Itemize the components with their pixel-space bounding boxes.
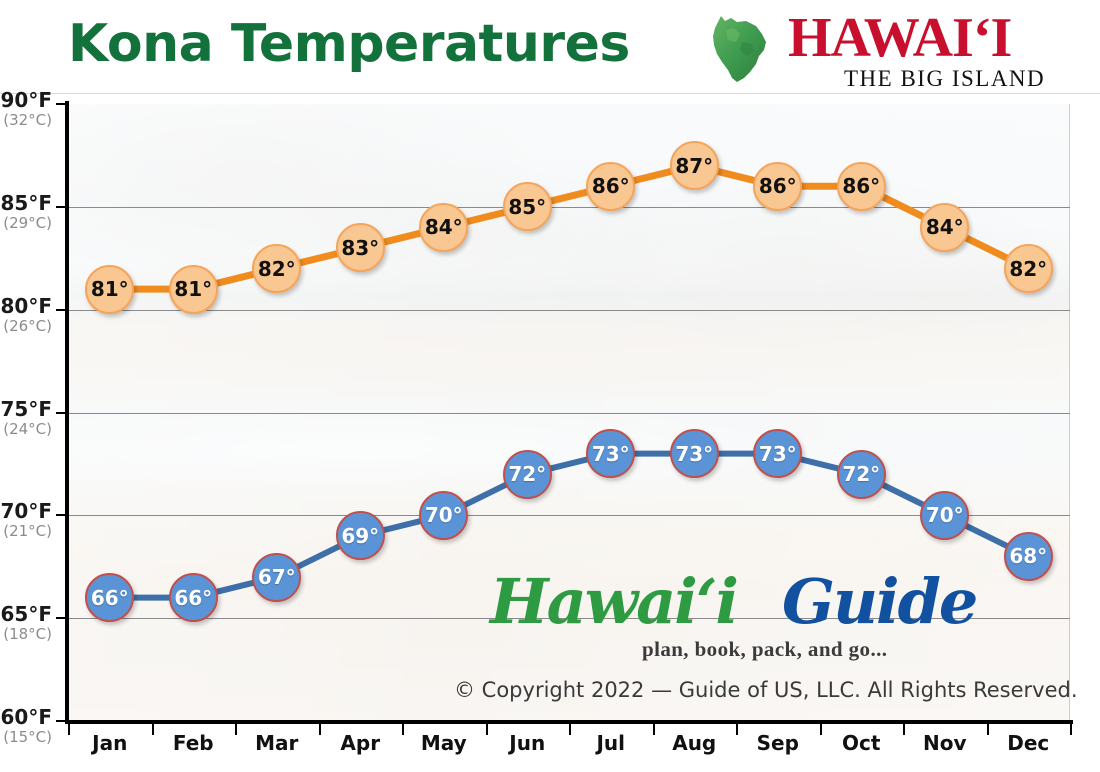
big-island-shape-icon	[704, 12, 782, 84]
x-axis-tick-label: Jan	[65, 731, 155, 755]
y-axis-tick-label: 85°F(29°C)	[0, 193, 52, 232]
data-point-low-may[interactable]: 70°	[419, 491, 468, 540]
copyright-notice: © Copyright 2022 — Guide of US, LLC. All…	[454, 678, 1078, 702]
y-tick-fahrenheit: 60°F	[0, 707, 52, 728]
watermark-brand-guide: Guide	[782, 567, 976, 637]
gridline	[68, 207, 1070, 208]
chart-header: Kona Temperatures HAWAIʻI THE BIG ISLAND	[0, 0, 1100, 94]
hawaii-guide-logo: Hawaiʻi Guide plan, book, pack, and go..…	[452, 565, 922, 643]
data-point-high-jul[interactable]: 86°	[586, 162, 635, 211]
x-axis-tick-label: Apr	[315, 731, 405, 755]
data-point-low-apr[interactable]: 69°	[336, 511, 385, 560]
temperature-chart-page: Kona Temperatures HAWAIʻI THE BIG ISLAND	[0, 0, 1100, 772]
y-axis-tick-label: 80°F(26°C)	[0, 296, 52, 335]
y-tick-celsius: (24°C)	[0, 420, 52, 438]
y-tick-celsius: (29°C)	[0, 214, 52, 232]
data-point-high-sep[interactable]: 86°	[753, 162, 802, 211]
y-tick-fahrenheit: 75°F	[0, 399, 52, 420]
brand-subtitle: THE BIG ISLAND	[844, 66, 1045, 92]
y-axis-tick	[56, 514, 68, 516]
page-title: Kona Temperatures	[68, 14, 630, 74]
gridline	[68, 310, 1070, 311]
x-axis-tick-label: Dec	[983, 731, 1073, 755]
y-tick-fahrenheit: 80°F	[0, 296, 52, 317]
y-axis-tick	[56, 412, 68, 414]
hawaii-guide-watermark: Hawaiʻi Guide plan, book, pack, and go..…	[452, 565, 1012, 700]
x-axis-tick-label: Oct	[816, 731, 906, 755]
y-axis-tick	[56, 617, 68, 619]
y-axis-tick	[56, 309, 68, 311]
y-tick-fahrenheit: 70°F	[0, 501, 52, 522]
data-point-high-apr[interactable]: 83°	[336, 223, 385, 272]
y-tick-fahrenheit: 85°F	[0, 193, 52, 214]
data-point-high-aug[interactable]: 87°	[670, 141, 719, 190]
data-point-high-jan[interactable]: 81°	[85, 265, 134, 314]
brand-wordmark: HAWAIʻI	[788, 8, 1011, 68]
data-point-low-nov[interactable]: 70°	[920, 491, 969, 540]
watermark-tagline: plan, book, pack, and go...	[642, 637, 887, 662]
gridline	[68, 413, 1070, 414]
y-tick-fahrenheit: 65°F	[0, 604, 52, 625]
watermark-brand-hawaii: Hawaiʻi	[490, 567, 737, 637]
data-point-low-feb[interactable]: 66°	[169, 573, 218, 622]
data-point-high-oct[interactable]: 86°	[837, 162, 886, 211]
y-tick-celsius: (15°C)	[0, 728, 52, 746]
y-axis-tick	[56, 103, 68, 105]
data-point-low-mar[interactable]: 67°	[252, 553, 301, 602]
y-axis-tick-label: 90°F(32°C)	[0, 90, 52, 129]
x-axis-tick-label: Jun	[482, 731, 572, 755]
x-axis-tick-label: Sep	[733, 731, 823, 755]
x-axis-tick-label: Aug	[649, 731, 739, 755]
data-point-low-oct[interactable]: 72°	[837, 450, 886, 499]
data-point-high-mar[interactable]: 82°	[252, 244, 301, 293]
header-divider	[0, 93, 1100, 94]
data-point-high-feb[interactable]: 81°	[169, 265, 218, 314]
data-point-low-jan[interactable]: 66°	[85, 573, 134, 622]
y-axis-tick-label: 70°F(21°C)	[0, 501, 52, 540]
data-point-low-aug[interactable]: 73°	[670, 429, 719, 478]
y-tick-fahrenheit: 90°F	[0, 90, 52, 111]
hawaii-big-island-logo: HAWAIʻI THE BIG ISLAND	[704, 6, 1044, 92]
data-point-high-jun[interactable]: 85°	[503, 182, 552, 231]
data-point-low-jun[interactable]: 72°	[503, 450, 552, 499]
y-tick-celsius: (21°C)	[0, 522, 52, 540]
y-axis-tick	[56, 206, 68, 208]
y-axis-tick-label: 75°F(24°C)	[0, 399, 52, 438]
data-point-high-may[interactable]: 84°	[419, 203, 468, 252]
x-axis-tick	[1070, 722, 1072, 735]
y-tick-celsius: (18°C)	[0, 625, 52, 643]
y-axis-tick-label: 65°F(18°C)	[0, 604, 52, 643]
y-axis-tick-label: 60°F(15°C)	[0, 707, 52, 746]
y-tick-celsius: (32°C)	[0, 111, 52, 129]
data-point-high-dec[interactable]: 82°	[1004, 244, 1053, 293]
x-axis-tick-label: Jul	[566, 731, 656, 755]
y-axis-tick	[56, 720, 68, 722]
data-point-high-nov[interactable]: 84°	[920, 203, 969, 252]
x-axis-tick-label: Nov	[900, 731, 990, 755]
x-axis-tick-label: May	[399, 731, 489, 755]
x-axis-tick-label: Mar	[232, 731, 322, 755]
y-tick-celsius: (26°C)	[0, 317, 52, 335]
x-axis-tick-label: Feb	[148, 731, 238, 755]
